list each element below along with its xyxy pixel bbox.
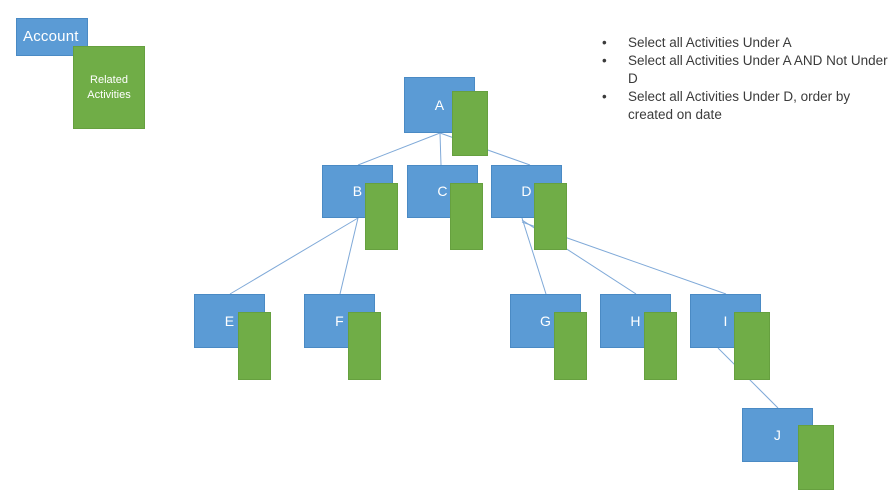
bullet-icon: • — [602, 52, 612, 70]
diagram-canvas: •Select all Activities Under A•Select al… — [0, 0, 896, 504]
edge-a-b — [358, 133, 440, 165]
related-activities-label-line2: Activities — [87, 88, 130, 103]
bullet-icon: • — [602, 34, 612, 52]
entity-label-e: E — [225, 313, 235, 329]
legend-item: •Select all Activities Under A — [596, 34, 888, 52]
activities-box-j[interactable] — [798, 425, 834, 490]
entity-label-i: I — [723, 313, 727, 329]
activities-box-i[interactable] — [734, 312, 770, 380]
edge-b-f — [340, 218, 358, 294]
entity-label-a: A — [435, 97, 445, 113]
edge-b-e — [230, 218, 358, 294]
legend-item-text: Select all Activities Under A AND Not Un… — [628, 52, 888, 88]
edge-a-c — [440, 133, 441, 165]
entity-label-g: G — [540, 313, 551, 329]
entity-label-b: B — [353, 183, 363, 199]
entity-label-j: J — [774, 427, 781, 443]
entity-label-h: H — [630, 313, 640, 329]
legend-item-text: Select all Activities Under D, order by … — [628, 88, 888, 124]
entity-label-c: C — [437, 183, 447, 199]
legend-list: •Select all Activities Under A•Select al… — [596, 34, 888, 124]
bullet-icon: • — [602, 88, 612, 106]
entity-label-d: D — [521, 183, 531, 199]
legend-item-text: Select all Activities Under A — [628, 34, 888, 52]
activities-box-g[interactable] — [554, 312, 587, 380]
activities-box-e[interactable] — [238, 312, 271, 380]
activities-box-d[interactable] — [534, 183, 567, 250]
activities-box-a[interactable] — [452, 91, 488, 156]
activities-box-c[interactable] — [450, 183, 483, 250]
activities-box-f[interactable] — [348, 312, 381, 380]
related-activities-box: Related Activities — [73, 46, 145, 129]
related-activities-label-line1: Related — [90, 73, 128, 88]
entity-label-f: F — [335, 313, 344, 329]
legend-item: •Select all Activities Under D, order by… — [596, 88, 888, 124]
activities-box-b[interactable] — [365, 183, 398, 250]
account-label: Account — [23, 28, 79, 45]
legend-item: •Select all Activities Under A AND Not U… — [596, 52, 888, 88]
activities-box-h[interactable] — [644, 312, 677, 380]
